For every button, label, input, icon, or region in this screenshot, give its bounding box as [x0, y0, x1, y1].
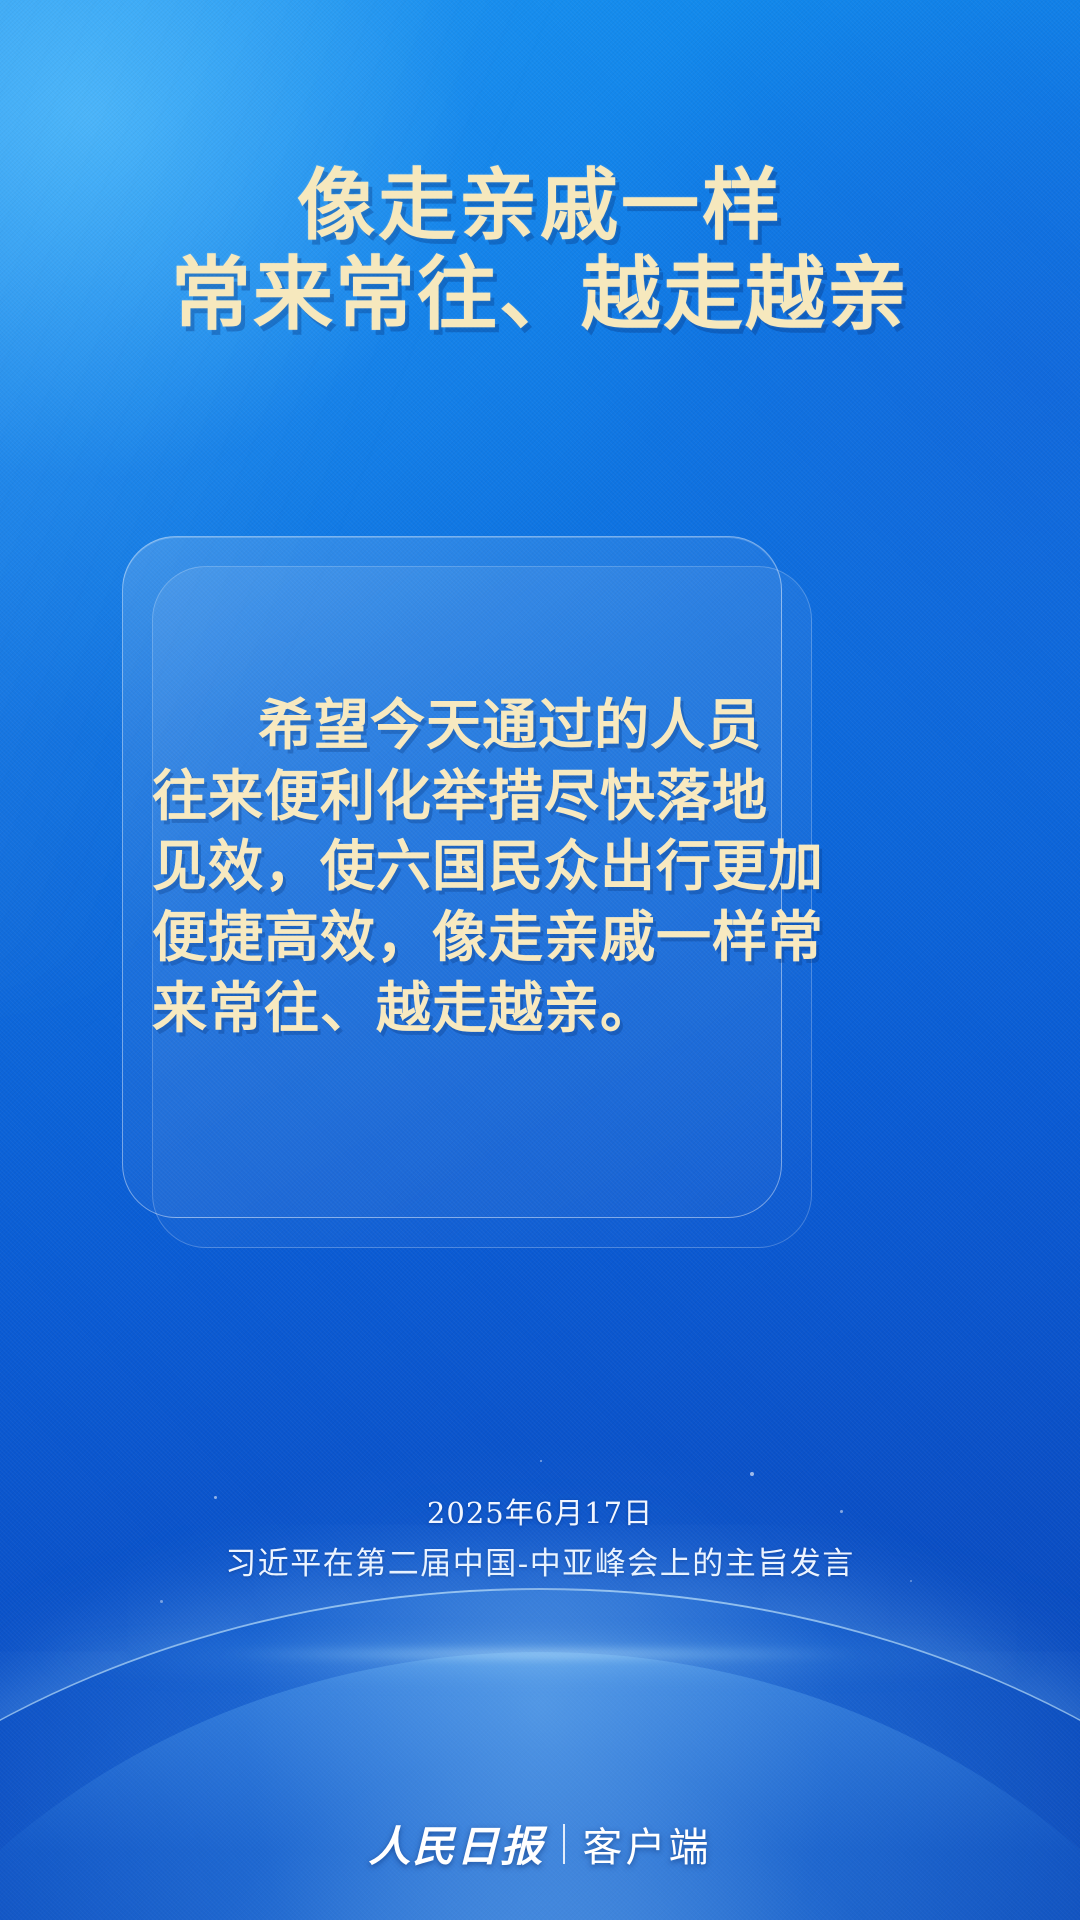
attribution-date: 2025年6月17日 [0, 1492, 1080, 1536]
poster-root: 像走亲戚一样 常来常往、越走越亲 希望今天通过的人员 往来便利化举措尽快落地 见… [0, 0, 1080, 1920]
quote-line: 希望今天通过的人员 [152, 690, 772, 761]
quote-line: 往来便利化举措尽快落地 [152, 761, 772, 832]
quote-line: 便捷高效，像走亲戚一样常 [152, 902, 772, 973]
quote-line: 见效，使六国民众出行更加 [152, 831, 772, 902]
horizon-glow-wide [40, 1646, 1040, 1668]
quote-line: 来常往、越走越亲。 [152, 973, 772, 1044]
star-dot [540, 1460, 542, 1462]
brand-divider-icon [563, 1824, 565, 1864]
quote-text-block: 希望今天通过的人员 往来便利化举措尽快落地 见效，使六国民众出行更加 便捷高效，… [152, 690, 772, 1043]
star-dot [750, 1472, 754, 1476]
horizon-glow [220, 1650, 860, 1658]
brand-product-label: 客户端 [583, 1815, 712, 1873]
globe-core [0, 1652, 1080, 1920]
star-dot [840, 1510, 843, 1513]
star-dot [160, 1600, 163, 1603]
brand-name: 人民日报 [368, 1813, 544, 1874]
attribution: 2025年6月17日 习近平在第二届中国-中亚峰会上的主旨发言 [0, 1492, 1080, 1588]
poster-title: 像走亲戚一样 常来常往、越走越亲 [0, 163, 1080, 340]
footer-brand: 人民日报 客户端 [0, 1813, 1080, 1874]
star-dot [214, 1496, 217, 1499]
star-dot [300, 1552, 302, 1554]
attribution-source: 习近平在第二届中国-中亚峰会上的主旨发言 [0, 1540, 1080, 1588]
title-line-1: 像走亲戚一样 [0, 163, 1080, 250]
star-dot [910, 1580, 912, 1582]
title-line-2: 常来常往、越走越亲 [0, 250, 1080, 340]
